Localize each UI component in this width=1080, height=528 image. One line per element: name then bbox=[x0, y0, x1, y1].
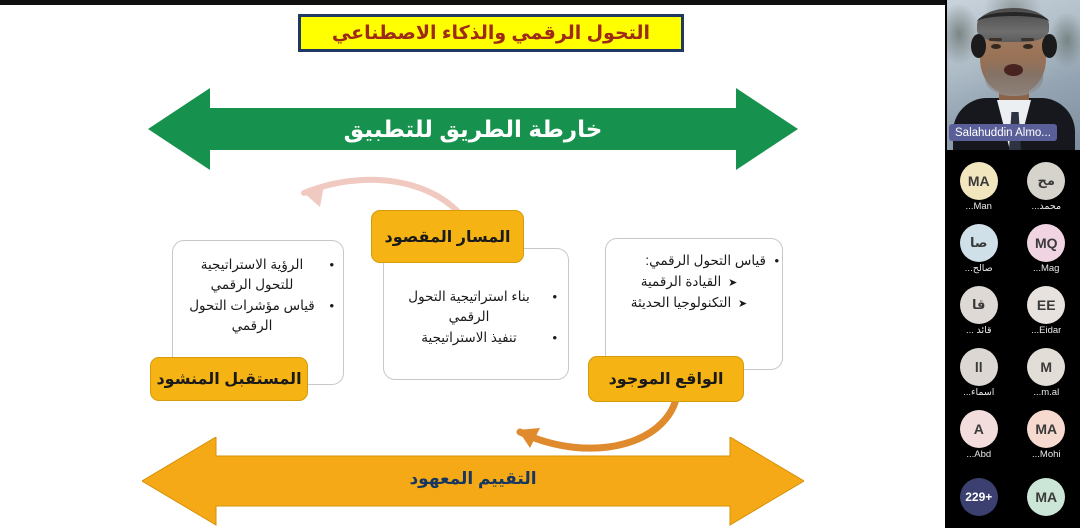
participant-tile[interactable]: صاصالح... bbox=[945, 218, 1013, 280]
participant-name-label: Mohi... bbox=[1032, 449, 1061, 460]
chevron-right-icon: ➤ bbox=[738, 298, 747, 310]
participant-tile[interactable]: قاقائد ... bbox=[945, 280, 1013, 342]
participant-tile[interactable]: محمحمد... bbox=[1013, 156, 1080, 218]
tag-future-label: المستقبل المنشود bbox=[150, 357, 308, 401]
list-item-label: الرؤية الاستراتيجية للتحول الرقمي bbox=[201, 257, 303, 292]
list-item: • قياس مؤشرات التحول الرقمي bbox=[183, 296, 321, 335]
participant-tile[interactable]: MQMag... bbox=[1013, 218, 1080, 280]
list-item: • تنفيذ الاستراتيجية bbox=[394, 328, 544, 348]
bullet-icon: • bbox=[552, 329, 557, 348]
participant-tile[interactable]: EEEidar... bbox=[1013, 280, 1080, 342]
speaker-brow-left bbox=[989, 38, 1002, 41]
speaker-name-label: Salahuddin Almo... bbox=[955, 127, 1051, 139]
evaluation-arrow-label: التقييم المعهود bbox=[409, 469, 536, 489]
bullet-icon: • bbox=[774, 252, 779, 271]
slide-title-banner: التحول الرقمي والذكاء الاصطناعي bbox=[298, 14, 684, 52]
box-reality-content: • قياس التحول الرقمي: ➤ القيادة الرقمية … bbox=[605, 238, 783, 370]
overflow-count-badge: +229 bbox=[960, 478, 998, 516]
participant-tile[interactable]: llاسماء... bbox=[945, 342, 1013, 404]
list-item: • بناء استراتيجية التحول الرقمي bbox=[394, 287, 544, 326]
list-item-label: تنفيذ الاستراتيجية bbox=[421, 330, 516, 345]
slide-top-strip bbox=[0, 0, 945, 5]
box-reality-list: • قياس التحول الرقمي: ➤ القيادة الرقمية … bbox=[612, 251, 766, 312]
evaluation-arrow-banner: التقييم المعهود bbox=[142, 437, 804, 528]
participant-tile[interactable]: MA bbox=[1013, 466, 1080, 528]
speaker-eye-right bbox=[1023, 44, 1033, 49]
participant-overflow-tile[interactable]: +229 bbox=[945, 466, 1013, 528]
avatar: MA bbox=[1027, 410, 1065, 448]
roadmap-arrow-label: خارطة الطريق للتطبيق bbox=[344, 116, 603, 143]
speaker-brow-right bbox=[1021, 38, 1034, 41]
participants-grid: محمحمد...MAMan...MQMag...صاصالح...EEEida… bbox=[945, 156, 1080, 528]
avatar: ll bbox=[960, 348, 998, 386]
page-title: التحول الرقمي والذكاء الاصطناعي bbox=[332, 22, 650, 45]
bullet-icon: • bbox=[552, 288, 557, 307]
participant-tile[interactable]: MAMohi... bbox=[1013, 404, 1080, 466]
list-item: • قياس التحول الرقمي: bbox=[612, 251, 766, 271]
bullet-icon: • bbox=[329, 256, 334, 275]
participant-name-label: m.al... bbox=[1033, 387, 1059, 398]
tag-path-label: المسار المقصود bbox=[371, 210, 524, 263]
avatar: A bbox=[960, 410, 998, 448]
avatar: قا bbox=[960, 286, 998, 324]
list-item-label: قياس مؤشرات التحول الرقمي bbox=[189, 298, 314, 333]
avatar: EE bbox=[1027, 286, 1065, 324]
screen: التحول الرقمي والذكاء الاصطناعي خارطة ال… bbox=[0, 0, 1080, 528]
list-item: • الرؤية الاستراتيجية للتحول الرقمي bbox=[183, 255, 321, 294]
participant-name-label: صالح... bbox=[965, 263, 993, 274]
avatar: مح bbox=[1027, 162, 1065, 200]
presentation-slide: التحول الرقمي والذكاء الاصطناعي خارطة ال… bbox=[0, 0, 945, 528]
participant-tile[interactable]: AAbd... bbox=[945, 404, 1013, 466]
list-item: ➤ التكنولوجيا الحديثة bbox=[612, 293, 766, 313]
chevron-right-icon: ➤ bbox=[728, 277, 737, 289]
avatar: MQ bbox=[1027, 224, 1065, 262]
list-item-label: بناء استراتيجية التحول الرقمي bbox=[408, 289, 529, 324]
tag-reality-label: الواقع الموجود bbox=[588, 356, 744, 402]
participant-name-label: قائد ... bbox=[966, 325, 992, 336]
list-item-label: قياس التحول الرقمي: bbox=[645, 253, 766, 268]
list-item-label: التكنولوجيا الحديثة bbox=[631, 295, 732, 310]
participant-tile[interactable]: Mm.al... bbox=[1013, 342, 1080, 404]
participant-name-label: اسماء... bbox=[963, 387, 994, 398]
box-future-list: • الرؤية الاستراتيجية للتحول الرقمي • قي… bbox=[183, 255, 321, 335]
participant-name-label: Mag... bbox=[1033, 263, 1059, 274]
bullet-icon: • bbox=[329, 297, 334, 316]
headphone-band-icon bbox=[977, 12, 1049, 32]
speaker-mouth bbox=[1004, 64, 1023, 76]
headphone-earcup-right-icon bbox=[1042, 34, 1057, 58]
avatar: MA bbox=[1027, 478, 1065, 516]
participant-name-label: Eidar... bbox=[1031, 325, 1061, 336]
box-path-content: • بناء استراتيجية التحول الرقمي • تنفيذ … bbox=[383, 248, 569, 380]
participant-name-label: محمد... bbox=[1031, 201, 1061, 212]
speaker-eye-left bbox=[991, 44, 1001, 49]
participant-tile[interactable]: MAMan... bbox=[945, 156, 1013, 218]
roadmap-arrow-banner: خارطة الطريق للتطبيق bbox=[148, 88, 798, 170]
participant-name-label: Man... bbox=[966, 201, 992, 212]
headphone-earcup-left-icon bbox=[971, 34, 986, 58]
list-item-label: القيادة الرقمية bbox=[641, 274, 722, 289]
avatar: صا bbox=[960, 224, 998, 262]
avatar: MA bbox=[960, 162, 998, 200]
speaker-name-badge: Salahuddin Almo... bbox=[949, 124, 1057, 141]
avatar: M bbox=[1027, 348, 1065, 386]
participant-name-label: Abd... bbox=[966, 449, 991, 460]
list-item: ➤ القيادة الرقمية bbox=[612, 272, 766, 292]
box-path-list: • بناء استراتيجية التحول الرقمي • تنفيذ … bbox=[394, 287, 544, 348]
